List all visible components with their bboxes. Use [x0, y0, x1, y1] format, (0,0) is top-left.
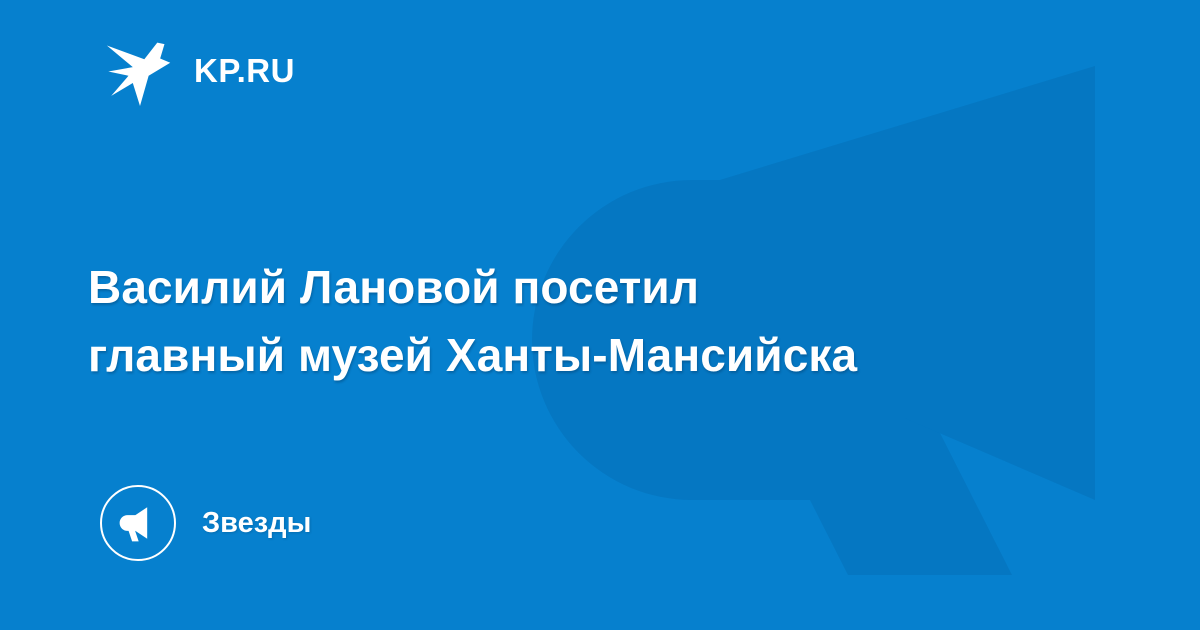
category-badge[interactable]: Звезды	[100, 485, 311, 561]
category-label: Звезды	[202, 509, 311, 538]
page-title-line-2: главный музей Ханты-Мансийска	[88, 321, 1098, 389]
brand-wordmark: KP.RU	[194, 54, 295, 87]
page-title-line-1: Василий Лановой посетил	[88, 253, 1098, 321]
page-title: Василий Лановой посетил главный музей Ха…	[88, 253, 1098, 389]
brand-header[interactable]: KP.RU	[104, 34, 295, 106]
category-icon-circle	[100, 485, 176, 561]
social-share-card: KP.RU Василий Лановой посетил главный му…	[0, 0, 1200, 630]
swallow-bird-icon	[104, 34, 176, 106]
megaphone-icon	[117, 502, 159, 544]
